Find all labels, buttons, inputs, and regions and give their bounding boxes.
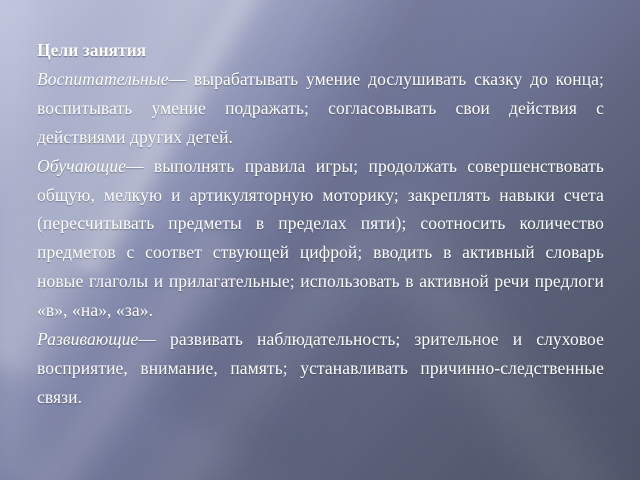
paragraph-body-1: выполнять правила игры; продолжать совер… (37, 156, 604, 321)
category-label-vospitatelnye: Воспитательные (37, 69, 169, 89)
presentation-slide: Цели занятия Воспитательные— вырабатыват… (0, 0, 640, 480)
paragraph-vospitatelnye: Воспитательные— вырабатывать умение досл… (37, 65, 604, 152)
em-dash-0: — (169, 69, 187, 89)
em-dash-1: — (126, 156, 144, 176)
slide-title: Цели занятия (37, 36, 604, 65)
em-dash-2: — (138, 329, 156, 349)
category-label-obuchayushchie: Обучающие (37, 156, 126, 176)
category-label-razvivayushchie: Развивающие (37, 329, 138, 349)
paragraph-obuchayushchie: Обучающие— выполнять правила игры; продо… (37, 152, 604, 325)
slide-text-block: Цели занятия Воспитательные— вырабатыват… (37, 36, 604, 412)
paragraph-razvivayushchie: Развивающие— развивать наблюдательность;… (37, 325, 604, 412)
